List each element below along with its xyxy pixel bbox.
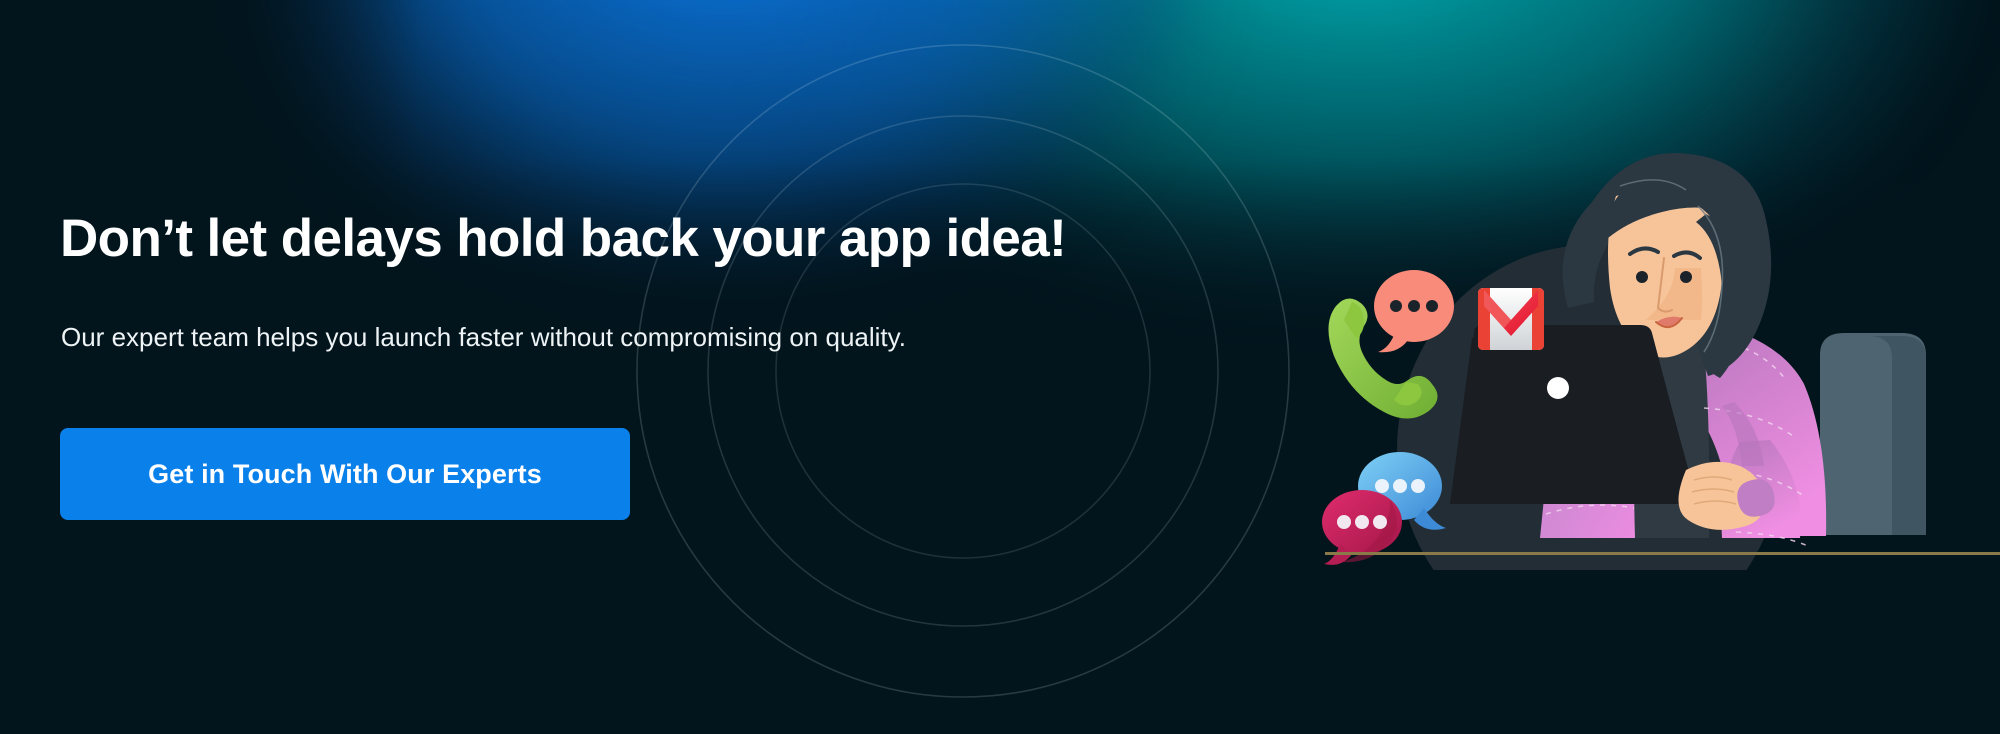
hero-content: Don’t let delays hold back your app idea… [60,0,1260,734]
page-title: Don’t let delays hold back your app idea… [60,208,1066,270]
get-in-touch-button[interactable]: Get in Touch With Our Experts [60,428,630,520]
hero-subtitle: Our expert team helps you launch faster … [61,320,906,354]
office-chair [1820,333,1926,535]
gmail-icon [1478,288,1544,350]
hero-illustration [1300,140,2000,570]
hero-banner: Don’t let delays hold back your app idea… [0,0,2000,734]
desk-line [1325,552,2000,555]
